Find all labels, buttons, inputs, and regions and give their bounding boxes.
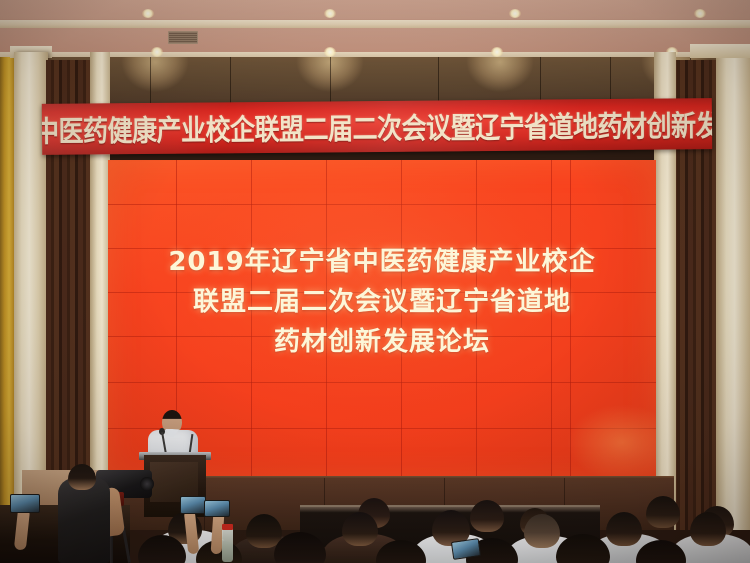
wall-panel-seam <box>330 57 331 107</box>
cameraman-torso <box>58 478 110 563</box>
cameraman-head <box>68 464 96 490</box>
led-panel-seam <box>108 382 656 383</box>
ceiling-spotlight <box>151 47 163 57</box>
led-screen-title: 2019年辽宁省中医药健康产业校企 联盟二届二次会议暨辽宁省道地 药材创新发展论… <box>108 242 656 362</box>
audience-shoulders <box>670 534 750 563</box>
audience-shoulders <box>588 534 670 563</box>
audience-shoulders <box>150 530 230 563</box>
wall-panel-seam <box>230 57 231 107</box>
water-bottle <box>222 528 233 562</box>
ceiling-lower-band <box>0 28 750 54</box>
podium-front-face <box>150 462 198 502</box>
ceiling-spotlight <box>324 9 336 18</box>
led-title-line-3: 药材创新发展论坛 <box>108 322 656 362</box>
wall-panel-seam <box>150 57 151 107</box>
audience-head <box>636 540 686 563</box>
ceiling-spotlight <box>491 47 503 57</box>
front-row-table <box>300 505 600 547</box>
led-panel-seam <box>108 204 656 205</box>
ceiling-spotlight <box>142 9 154 18</box>
right-column <box>716 52 750 530</box>
led-bright-patch <box>568 405 656 480</box>
ceiling-spotlight <box>509 9 521 18</box>
ceiling-spotlight <box>324 47 336 57</box>
led-title-line-1: 2019年辽宁省中医药健康产业校企 <box>108 242 656 282</box>
red-banner: 辽宁省中医药健康产业校企联盟二届二次会议暨辽宁省道地药材创新发展论坛 <box>42 98 712 155</box>
camera-lens <box>140 477 154 491</box>
right-column-capital <box>690 44 750 58</box>
banner-text: 辽宁省中医药健康产业校企联盟二届二次会议暨辽宁省道地药材创新发展论坛 <box>42 102 712 151</box>
ceiling-vent-grille <box>168 31 198 44</box>
audience-head <box>196 540 242 563</box>
conference-hall-photo: 2019年辽宁省中医药健康产业校企 联盟二届二次会议暨辽宁省道地 药材创新发展论… <box>0 0 750 563</box>
wall-light-wash <box>110 57 200 107</box>
led-title-line-2: 联盟二届二次会议暨辽宁省道地 <box>108 282 656 322</box>
audience-shoulders <box>230 536 308 563</box>
ceiling-upper-band <box>0 0 750 22</box>
audience-head <box>138 535 186 563</box>
ceiling-spotlight <box>694 9 706 18</box>
